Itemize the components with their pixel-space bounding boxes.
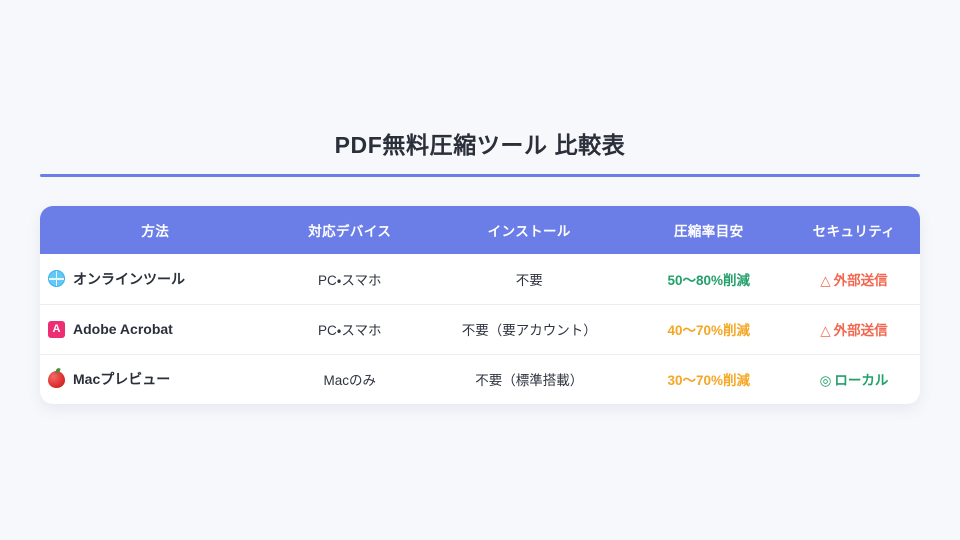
page-title: PDF無料圧縮ツール 比較表 (40, 128, 920, 162)
table-body: オンラインツール PC・スマホ 不要 50〜80%削減 △外部送信 (40, 254, 920, 404)
adobe-a-icon: A (48, 321, 65, 338)
cell-install: 不要 (429, 254, 630, 304)
ratio-value: 50〜80%削減 (667, 273, 750, 288)
table-row: オンラインツール PC・スマホ 不要 50〜80%削減 △外部送信 (40, 254, 920, 304)
method-label: Adobe Acrobat (73, 321, 173, 337)
cell-ratio: 30〜70%削減 (630, 354, 788, 404)
column-header-install: インストール (429, 206, 630, 254)
cell-device: Macのみ (271, 354, 429, 404)
column-header-security: セキュリティ (788, 206, 920, 254)
cell-method: オンラインツール (40, 254, 271, 304)
table-row: A Adobe Acrobat PC・スマホ 不要（要アカウント） 40〜70%… (40, 304, 920, 354)
security-label: 外部送信 (834, 273, 888, 288)
table-row: Macプレビュー Macのみ 不要（標準搭載） 30〜70%削減 ◎ローカル (40, 354, 920, 404)
method-label: Macプレビュー (73, 369, 170, 389)
comparison-table-card: 方法 対応デバイス インストール 圧縮率目安 セキュリティ オンラインツール P (40, 206, 920, 404)
table-header: 方法 対応デバイス インストール 圧縮率目安 セキュリティ (40, 206, 920, 254)
status-badge: ◎ローカル (820, 373, 889, 388)
globe-icon (48, 270, 65, 287)
warning-triangle-icon: △ (820, 323, 830, 338)
cell-security: △外部送信 (788, 304, 920, 354)
warning-triangle-icon: △ (820, 273, 830, 288)
cell-ratio: 50〜80%削減 (630, 254, 788, 304)
security-label: ローカル (834, 373, 888, 388)
cell-device: PC・スマホ (271, 254, 429, 304)
ratio-value: 30〜70%削減 (667, 373, 750, 388)
column-header-ratio: 圧縮率目安 (630, 206, 788, 254)
status-badge: △外部送信 (820, 323, 887, 338)
cell-method: A Adobe Acrobat (40, 304, 271, 354)
title-accent-rule (40, 174, 920, 177)
cell-device: PC・スマホ (271, 304, 429, 354)
cell-method: Macプレビュー (40, 354, 271, 404)
ratio-value: 40〜70%削減 (667, 323, 750, 338)
cell-install: 不要（標準搭載） (429, 354, 630, 404)
table-header-row: 方法 対応デバイス インストール 圧縮率目安 セキュリティ (40, 206, 920, 254)
cell-install: 不要（要アカウント） (429, 304, 630, 354)
column-header-method: 方法 (40, 206, 271, 254)
method-label: オンラインツール (73, 269, 185, 289)
comparison-table-page: PDF無料圧縮ツール 比較表 方法 対応デバイス インストール 圧縮率目安 セキ… (0, 0, 960, 540)
cell-security: ◎ローカル (788, 354, 920, 404)
security-label: 外部送信 (834, 323, 888, 338)
column-header-device: 対応デバイス (271, 206, 429, 254)
double-circle-icon: ◎ (820, 373, 832, 388)
cell-ratio: 40〜70%削減 (630, 304, 788, 354)
status-badge: △外部送信 (820, 273, 887, 288)
comparison-table: 方法 対応デバイス インストール 圧縮率目安 セキュリティ オンラインツール P (40, 206, 920, 404)
apple-icon (48, 371, 65, 388)
cell-security: △外部送信 (788, 254, 920, 304)
title-block: PDF無料圧縮ツール 比較表 (40, 128, 920, 177)
